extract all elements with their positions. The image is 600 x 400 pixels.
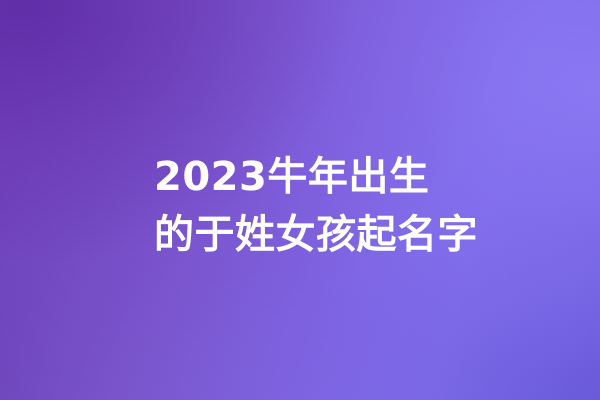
article-cover-banner: 2023牛年出生 的于姓女孩起名字 <box>0 0 600 400</box>
banner-title-line-1: 2023牛年出生 <box>154 148 484 206</box>
banner-title: 2023牛年出生 的于姓女孩起名字 <box>154 148 484 264</box>
banner-title-line-2: 的于姓女孩起名字 <box>154 206 484 264</box>
